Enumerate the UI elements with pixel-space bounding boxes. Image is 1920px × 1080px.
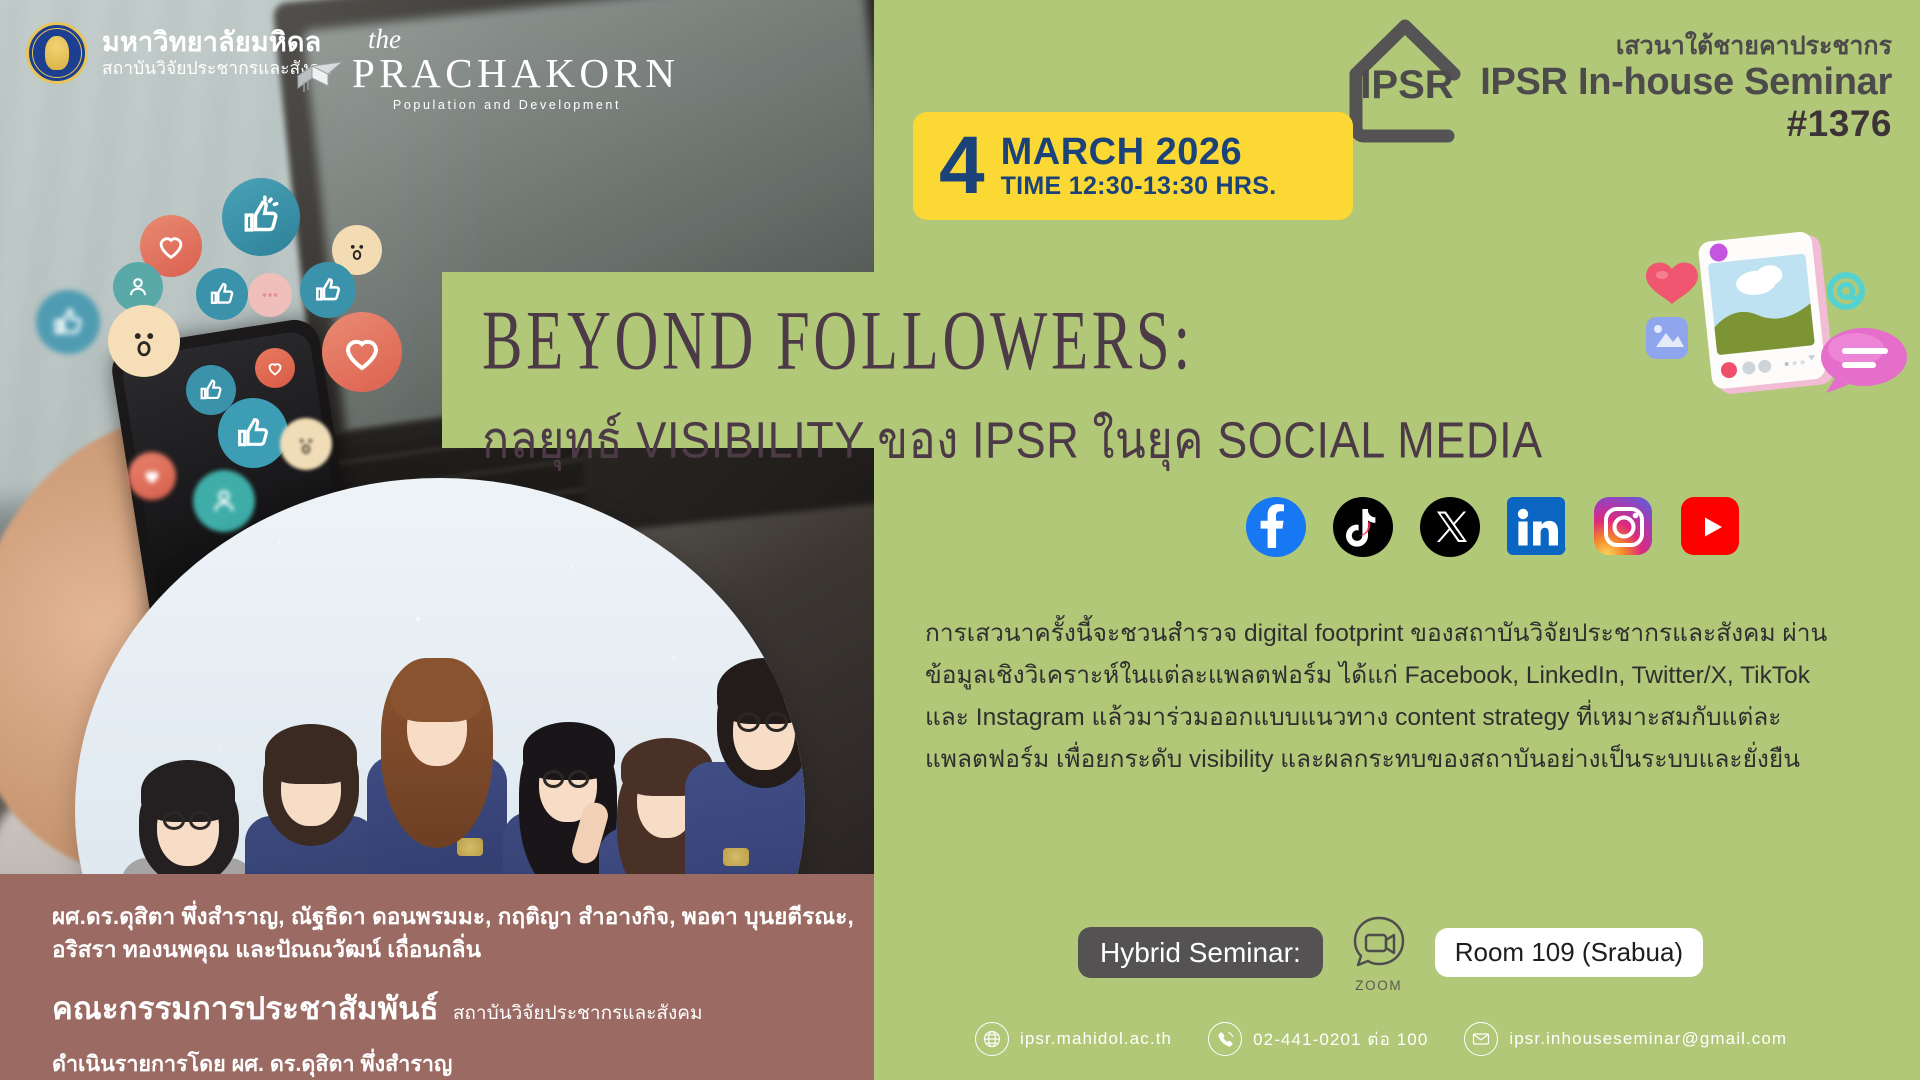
prachakorn-subtitle: Population and Development bbox=[352, 98, 662, 112]
seminar-series-thai: เสวนาใต้ชายคาประชากร bbox=[1480, 32, 1892, 61]
reaction-bubble-like-mid-b bbox=[300, 262, 356, 318]
globe-icon bbox=[975, 1022, 1009, 1056]
social-platform-icons: ® bbox=[1245, 496, 1742, 558]
room-label: Room 109 (Srabua) bbox=[1435, 928, 1703, 977]
ipsr-seminar-header: IPSR เสวนาใต้ชายคาประชากร IPSR In-house … bbox=[1344, 12, 1892, 148]
svg-text:IPSR: IPSR bbox=[1361, 63, 1454, 107]
reaction-bubble-like-blur bbox=[36, 290, 100, 354]
episode-number: #1376 bbox=[1480, 103, 1892, 146]
speakers-line-2: อริสรา ทองนพคุณ และปัณณวัฒน์ เถื่อนกลิ่น bbox=[52, 933, 874, 966]
prachakorn-title: PRACHAKORN bbox=[352, 53, 662, 95]
organizer-row: คณะกรรมการประชาสัมพันธ์ สถาบันวิจัยประชา… bbox=[52, 983, 874, 1033]
title-band: BEYOND FOLLOWERS: กลยุทธ์ VISIBILITY ของ… bbox=[442, 272, 1552, 448]
seminar-poster: ผศ.ดร.ดุสิตา พึ่งสำราญ, ณัฐธิดา ดอนพรมมะ… bbox=[0, 0, 1920, 1080]
reaction-bubble-heart-small bbox=[255, 348, 295, 388]
reaction-bubble-like-mid-a bbox=[196, 268, 248, 320]
prachakorn-logo: the PRACHAKORN Population and Developmen… bbox=[352, 26, 662, 112]
social-media-3d-sticker bbox=[1640, 225, 1910, 415]
mahidol-logo: มหาวิทยาลัยมหิดล สถาบันวิจัยประชากรและสั… bbox=[26, 22, 332, 84]
mahidol-seal-icon bbox=[26, 22, 88, 84]
svg-text:®: ® bbox=[1560, 545, 1566, 554]
phone-text: 02-441-0201 ต่อ 100 bbox=[1253, 1026, 1428, 1053]
contact-email[interactable]: ipsr.inhouseseminar@gmail.com bbox=[1464, 1022, 1787, 1056]
email-text: ipsr.inhouseseminar@gmail.com bbox=[1509, 1029, 1787, 1049]
instagram-icon[interactable] bbox=[1593, 496, 1655, 558]
host-line: ดำเนินรายการโดย ผศ. ดร.ดุสิตา พึ่งสำราญ bbox=[52, 1047, 874, 1080]
phone-icon bbox=[1208, 1022, 1242, 1056]
reaction-bubble-heart-big bbox=[322, 312, 402, 392]
event-month-year: MARCH 2026 bbox=[1001, 132, 1277, 172]
prachakorn-book-icon bbox=[294, 48, 346, 96]
contact-website[interactable]: ipsr.mahidol.ac.th bbox=[975, 1022, 1172, 1056]
seminar-series-en: IPSR In-house Seminar bbox=[1480, 61, 1892, 104]
organizer-institute: สถาบันวิจัยประชากรและสังคม bbox=[453, 998, 703, 1028]
contact-row: ipsr.mahidol.ac.th 02-441-0201 ต่อ 100 i… bbox=[975, 1022, 1809, 1056]
envelope-icon bbox=[1464, 1022, 1498, 1056]
reaction-bubble-dots bbox=[248, 273, 292, 317]
youtube-icon[interactable] bbox=[1680, 496, 1742, 558]
venue-row: Hybrid Seminar: ZOOM Room 109 (Srabua) bbox=[1078, 912, 1703, 993]
speakers-line-1: ผศ.ดร.ดุสิตา พึ่งสำราญ, ณัฐธิดา ดอนพรมมะ… bbox=[52, 900, 874, 933]
tiktok-icon[interactable] bbox=[1332, 496, 1394, 558]
facebook-icon[interactable] bbox=[1245, 496, 1307, 558]
zoom-block: ZOOM bbox=[1347, 912, 1411, 993]
credits-band: ผศ.ดร.ดุสิตา พึ่งสำราญ, ณัฐธิดา ดอนพรมมะ… bbox=[0, 874, 874, 1080]
ipsr-house-icon: IPSR bbox=[1344, 12, 1466, 148]
organizer-name: คณะกรรมการประชาสัมพันธ์ bbox=[52, 983, 439, 1033]
seminar-title-sub: กลยุทธ์ VISIBILITY ของ IPSR ในยุค SOCIAL… bbox=[482, 398, 1543, 480]
reaction-bubble-like-bottom bbox=[218, 398, 288, 468]
date-badge: 4 MARCH 2026 TIME 12:30-13:30 HRS. bbox=[913, 112, 1353, 220]
seminar-title-main: BEYOND FOLLOWERS: bbox=[482, 298, 1466, 384]
reaction-bubble-wow-large bbox=[108, 305, 180, 377]
hybrid-seminar-label: Hybrid Seminar: bbox=[1078, 927, 1323, 978]
reaction-bubble-wow-bottom bbox=[280, 418, 332, 470]
seminar-description: การเสวนาครั้งนี้จะชวนสำรวจ digital footp… bbox=[925, 613, 1850, 782]
event-day: 4 bbox=[939, 132, 983, 199]
zoom-label: ZOOM bbox=[1355, 978, 1402, 993]
contact-phone[interactable]: 02-441-0201 ต่อ 100 bbox=[1208, 1022, 1428, 1056]
event-time: TIME 12:30-13:30 HRS. bbox=[1001, 172, 1277, 200]
x-twitter-icon[interactable] bbox=[1419, 496, 1481, 558]
zoom-video-icon bbox=[1347, 912, 1411, 976]
website-text: ipsr.mahidol.ac.th bbox=[1020, 1029, 1172, 1049]
reaction-bubble-like-large bbox=[222, 178, 300, 256]
prachakorn-the: the bbox=[368, 26, 662, 53]
linkedin-icon[interactable]: ® bbox=[1506, 496, 1568, 558]
